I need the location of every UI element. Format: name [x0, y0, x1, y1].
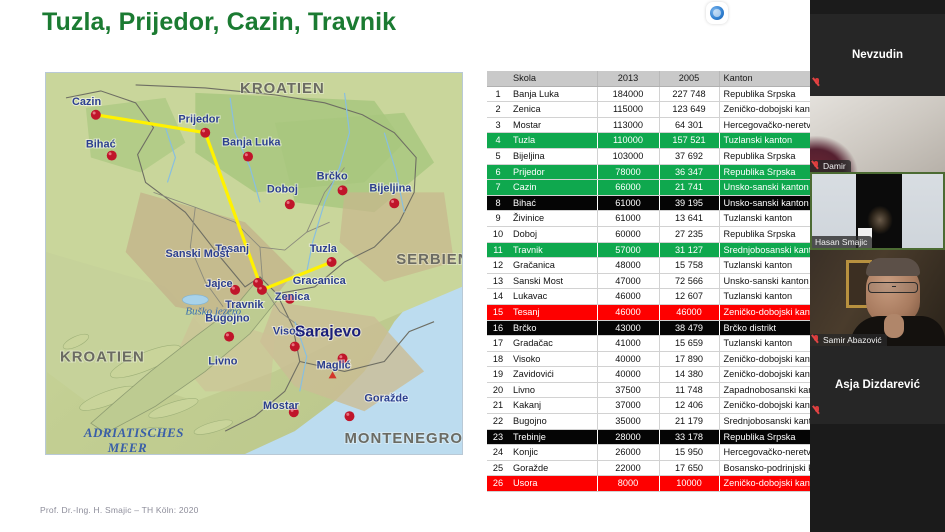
table-row: 3Mostar11300064 301Hercegovačko-neretvan…	[487, 117, 857, 133]
cell-skola: Zenica	[509, 102, 597, 118]
cell-2013: 78000	[597, 164, 659, 180]
cell-skola: Doboj	[509, 226, 597, 242]
footer-attribution: Prof. Dr.-Ing. H. Smajic – TH Köln: 2020	[40, 505, 199, 515]
col-header-skola: Skola	[509, 71, 597, 86]
participant-name-hasan-smajic: Hasan Smajic	[815, 237, 867, 247]
cell-skola: Gradačac	[509, 336, 597, 352]
cell-2013: 60000	[597, 226, 659, 242]
cell-skola: Bihać	[509, 195, 597, 211]
table-row: 8Bihać6100039 195Unsko-sanski kanton	[487, 195, 857, 211]
cell-index: 2	[487, 102, 509, 118]
cell-index: 7	[487, 180, 509, 196]
table-row: 24Konjic2600015 950Hercegovačko-neretvan…	[487, 445, 857, 461]
cell-skola: Lukavac	[509, 289, 597, 305]
cell-2005: 46000	[659, 304, 719, 320]
cell-skola: Živinice	[509, 211, 597, 227]
cell-2005: 21 179	[659, 414, 719, 430]
cell-skola: Goražde	[509, 460, 597, 476]
map-label-montenegro: MONTENEGRO	[345, 430, 462, 447]
cell-index: 15	[487, 304, 509, 320]
map-label-serbien: SERBIEN	[396, 251, 462, 268]
cell-skola: Bugojno	[509, 414, 597, 430]
cell-skola: Bijeljina	[509, 148, 597, 164]
cell-2013: 48000	[597, 258, 659, 274]
cell-2013: 37000	[597, 398, 659, 414]
cell-2013: 113000	[597, 117, 659, 133]
mic-off-icon	[814, 403, 821, 421]
cell-2005: 64 301	[659, 117, 719, 133]
map-label-maglic: Maglić	[317, 359, 351, 371]
cell-2013: 61000	[597, 195, 659, 211]
cell-2013: 8000	[597, 476, 659, 492]
participant-name-nevzudin: Nevzudin	[852, 49, 903, 61]
col-header-index	[487, 71, 509, 86]
cell-skola: Banja Luka	[509, 86, 597, 102]
map-label-cazin: Cazin	[72, 96, 101, 108]
messenger-app-icon[interactable]	[706, 2, 728, 24]
bosnia-map: Cazin Bihać Prijedor Banja Luka Doboj Br…	[45, 72, 463, 455]
cell-2005: 123 649	[659, 102, 719, 118]
map-label-jajce: Jajce	[205, 278, 232, 290]
cell-2005: 11 748	[659, 382, 719, 398]
table-row: 25Goražde2200017 650Bosansko-podrinjski …	[487, 460, 857, 476]
table-row: 17Gradačac4100015 659Tuzlanski kanton	[487, 336, 857, 352]
cell-2013: 22000	[597, 460, 659, 476]
cell-2013: 61000	[597, 211, 659, 227]
cell-2013: 40000	[597, 367, 659, 383]
cell-index: 14	[487, 289, 509, 305]
cell-2005: 12 406	[659, 398, 719, 414]
cell-skola: Mostar	[509, 117, 597, 133]
cell-skola: Kakanj	[509, 398, 597, 414]
cell-skola: Sanski Most	[509, 273, 597, 289]
mic-off-icon	[814, 75, 821, 93]
cell-2013: 40000	[597, 351, 659, 367]
cell-2013: 46000	[597, 304, 659, 320]
cell-2013: 184000	[597, 86, 659, 102]
map-label-livno: Livno	[208, 355, 237, 367]
map-label-doboj: Doboj	[267, 183, 298, 195]
table-row: 21Kakanj3700012 406Zeničko-dobojski kant…	[487, 398, 857, 414]
page-title: Tuzla, Prijedor, Cazin, Travnik	[42, 8, 396, 37]
video-tile-asja-dizdarevic[interactable]: Asja Dizdarević	[810, 346, 945, 424]
glasses-decor	[868, 282, 918, 293]
table-row: 2Zenica115000123 649Zeničko-dobojski kan…	[487, 102, 857, 118]
map-label-sanski-most: Sanski Most	[165, 248, 229, 260]
cell-2005: 38 479	[659, 320, 719, 336]
cell-skola: Trebinje	[509, 429, 597, 445]
cell-index: 6	[487, 164, 509, 180]
person-hand-decor	[884, 314, 904, 338]
map-label-bijeljina: Bijeljina	[369, 182, 412, 194]
cell-2013: 47000	[597, 273, 659, 289]
cell-index: 10	[487, 226, 509, 242]
cell-index: 16	[487, 320, 509, 336]
video-tile-samir-abazovic[interactable]: Samir Abazović	[810, 250, 945, 346]
cell-2005: 157 521	[659, 133, 719, 149]
map-label-adriatic-2: MEER	[107, 440, 147, 454]
cell-2013: 115000	[597, 102, 659, 118]
map-label-busko-jezero: Buško jezero	[185, 306, 241, 318]
table-row: 23Trebinje2800033 178Republika Srpska	[487, 429, 857, 445]
map-svg: Cazin Bihać Prijedor Banja Luka Doboj Br…	[46, 73, 462, 454]
cell-index: 22	[487, 414, 509, 430]
cell-2013: 35000	[597, 414, 659, 430]
cell-index: 21	[487, 398, 509, 414]
participant-name-asja-dizdarevic: Asja Dizdarević	[835, 379, 920, 391]
table-row: 15Tesanj4600046000Zeničko-dobojski kanto…	[487, 304, 857, 320]
table-row: 16Brčko4300038 479Brčko distrikt	[487, 320, 857, 336]
mic-off-icon	[813, 335, 820, 345]
cell-2005: 15 758	[659, 258, 719, 274]
cell-2013: 110000	[597, 133, 659, 149]
cell-skola: Konjic	[509, 445, 597, 461]
table-row: 13Sanski Most4700072 566Unsko-sanski kan…	[487, 273, 857, 289]
participant-namebar-samir-abazovic: Samir Abazović	[810, 334, 887, 346]
participant-name-samir-abazovic: Samir Abazović	[823, 335, 882, 345]
table-row: 5Bijeljina10300037 692Republika Srpska	[487, 148, 857, 164]
cell-2005: 27 235	[659, 226, 719, 242]
table-row: 22Bugojno3500021 179Srednjobosanski kant…	[487, 414, 857, 430]
col-header-2013: 2013	[597, 71, 659, 86]
video-tile-hasan-smajic[interactable]: Hasan Smajic	[810, 172, 945, 250]
cell-2005: 14 380	[659, 367, 719, 383]
cell-index: 23	[487, 429, 509, 445]
cell-2013: 41000	[597, 336, 659, 352]
video-tile-nevzudin[interactable]: Nevzudin	[810, 14, 945, 96]
map-label-kroatien-south: KROATIEN	[60, 348, 145, 365]
cell-2013: 43000	[597, 320, 659, 336]
map-label-bihac: Bihać	[86, 139, 116, 151]
cell-skola: Livno	[509, 382, 597, 398]
map-label-gracanica: Gracanica	[293, 275, 347, 287]
cell-2005: 17 650	[659, 460, 719, 476]
lake-busko	[182, 295, 208, 305]
map-label-banja-luka: Banja Luka	[222, 137, 281, 149]
cell-2005: 15 950	[659, 445, 719, 461]
video-call-panel: Nevzudin Damir Hasan Smajic	[810, 0, 945, 532]
cell-2005: 227 748	[659, 86, 719, 102]
cell-2013: 37500	[597, 382, 659, 398]
cell-2005: 72 566	[659, 273, 719, 289]
video-tile-damir[interactable]: Damir	[810, 96, 945, 172]
cell-index: 5	[487, 148, 509, 164]
table-row: 19Zavidovići4000014 380Zeničko-dobojski …	[487, 367, 857, 383]
table-row: 26Usora800010000Zeničko-dobojski kanton	[487, 476, 857, 492]
table-row: 6Prijedor7800036 347Republika Srpska	[487, 164, 857, 180]
map-label-tuzla: Tuzla	[310, 243, 338, 255]
map-label-kroatien-north: KROATIEN	[240, 80, 325, 97]
person-hair-decor	[866, 258, 920, 276]
participant-namebar-hasan-smajic: Hasan Smajic	[812, 236, 872, 248]
table-row: 20Livno3750011 748Zapadnobosanski kanton	[487, 382, 857, 398]
cell-2013: 57000	[597, 242, 659, 258]
table-row: 4Tuzla110000157 521Tuzlanski kanton	[487, 133, 857, 149]
cell-skola: Brčko	[509, 320, 597, 336]
cell-index: 26	[487, 476, 509, 492]
cell-skola: Visoko	[509, 351, 597, 367]
table-body: 1Banja Luka184000227 748Republika Srpska…	[487, 86, 857, 491]
cell-skola: Tesanj	[509, 304, 597, 320]
cell-index: 9	[487, 211, 509, 227]
cell-2005: 17 890	[659, 351, 719, 367]
cell-index: 3	[487, 117, 509, 133]
table-row: 9Živinice6100013 641Tuzlanski kanton	[487, 211, 857, 227]
cell-2013: 103000	[597, 148, 659, 164]
cell-2005: 37 692	[659, 148, 719, 164]
cell-index: 18	[487, 351, 509, 367]
cell-index: 25	[487, 460, 509, 476]
cell-index: 24	[487, 445, 509, 461]
cell-skola: Prijedor	[509, 164, 597, 180]
cell-skola: Cazin	[509, 180, 597, 196]
table-row: 11Travnik5700031 127Srednjobosanski kant…	[487, 242, 857, 258]
cell-index: 8	[487, 195, 509, 211]
cell-2013: 46000	[597, 289, 659, 305]
cell-2005: 12 607	[659, 289, 719, 305]
video-panel-filler	[810, 424, 945, 532]
presentation-slide: Tuzla, Prijedor, Cazin, Travnik	[0, 0, 945, 532]
participant-namebar-damir: Damir	[810, 160, 851, 172]
city-population-table: Skola 2013 2005 Kanton 1Banja Luka184000…	[487, 71, 857, 492]
cell-index: 1	[487, 86, 509, 102]
table-row: 1Banja Luka184000227 748Republika Srpska	[487, 86, 857, 102]
table-header-row: Skola 2013 2005 Kanton	[487, 71, 857, 86]
cell-2013: 66000	[597, 180, 659, 196]
cell-2005: 13 641	[659, 211, 719, 227]
cell-index: 11	[487, 242, 509, 258]
cell-2005: 33 178	[659, 429, 719, 445]
mic-off-icon	[813, 161, 820, 171]
cell-index: 13	[487, 273, 509, 289]
map-label-brcko: Brčko	[317, 170, 348, 182]
cell-2005: 21 741	[659, 180, 719, 196]
map-label-sarajevo: Sarajevo	[295, 324, 362, 341]
table-row: 10Doboj6000027 235Republika Srpska	[487, 226, 857, 242]
map-label-gorazde: Goražde	[364, 392, 408, 404]
table-row: 18Visoko4000017 890Zeničko-dobojski kant…	[487, 351, 857, 367]
map-label-adriatic-1: ADRIATISCHES	[83, 425, 184, 440]
map-label-prijedor: Prijedor	[178, 114, 220, 126]
cell-skola: Gračanica	[509, 258, 597, 274]
participant-name-damir: Damir	[823, 161, 846, 171]
cell-2005: 39 195	[659, 195, 719, 211]
cell-2005: 31 127	[659, 242, 719, 258]
cell-index: 17	[487, 336, 509, 352]
cell-index: 19	[487, 367, 509, 383]
cell-skola: Usora	[509, 476, 597, 492]
table-row: 12Gračanica4800015 758Tuzlanski kanton	[487, 258, 857, 274]
cell-2005: 10000	[659, 476, 719, 492]
messenger-glyph	[710, 6, 724, 20]
cell-skola: Zavidovići	[509, 367, 597, 383]
cell-2005: 15 659	[659, 336, 719, 352]
cell-skola: Tuzla	[509, 133, 597, 149]
map-label-mostar: Mostar	[263, 400, 300, 412]
cell-index: 12	[487, 258, 509, 274]
cell-2013: 26000	[597, 445, 659, 461]
table-row: 7Cazin6600021 741Unsko-sanski kanton	[487, 180, 857, 196]
table-row: 14Lukavac4600012 607Tuzlanski kanton	[487, 289, 857, 305]
cell-index: 4	[487, 133, 509, 149]
col-header-2005: 2005	[659, 71, 719, 86]
cell-index: 20	[487, 382, 509, 398]
cell-2005: 36 347	[659, 164, 719, 180]
cell-2013: 28000	[597, 429, 659, 445]
cell-skola: Travnik	[509, 242, 597, 258]
map-label-zenica: Zenica	[275, 291, 311, 303]
